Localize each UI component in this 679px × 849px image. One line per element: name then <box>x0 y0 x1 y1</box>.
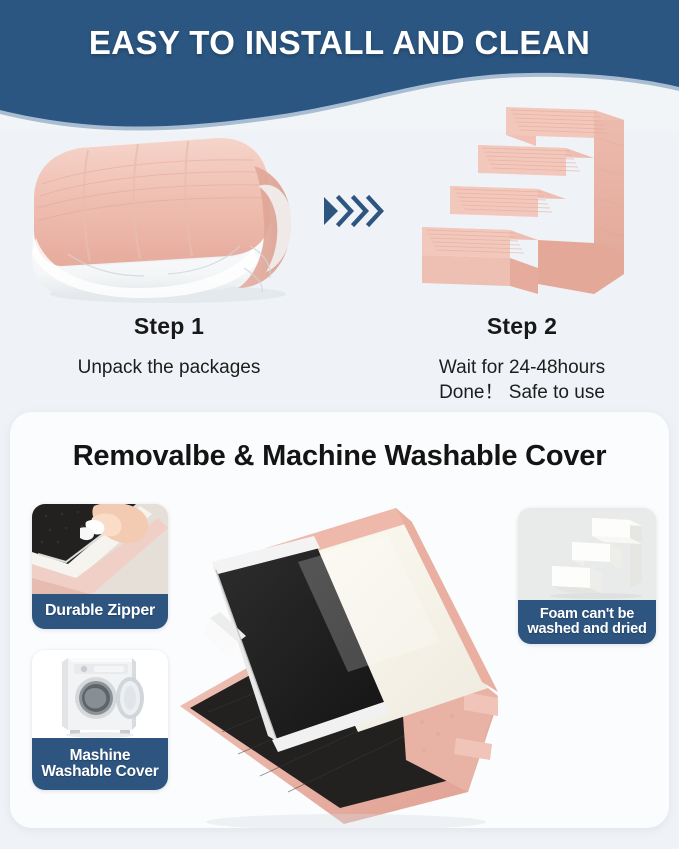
vacuum-packed-foam-roll-image <box>18 126 308 306</box>
foam-not-washable-line-1: Foam can't be <box>540 606 634 622</box>
washing-machine-photo <box>32 650 168 738</box>
steps-section: Step 1 Unpack the packages Step 2 Wait f… <box>0 96 679 406</box>
foam-not-washable-label-text: Foam can't be washed and dried <box>527 607 646 638</box>
cover-peeled-back-product-image <box>168 492 518 828</box>
machine-washable-label: Mashine Washable Cover <box>32 738 168 790</box>
durable-zipper-label-text: Durable Zipper <box>45 603 155 620</box>
pink-pet-stairs-image <box>398 98 628 310</box>
zipper-photo-art <box>32 504 168 594</box>
foam-not-washable-line-2: washed and dried <box>527 621 646 637</box>
chevron-right-arrows-icon <box>322 194 388 228</box>
machine-washable-line-1: Mashine <box>70 747 131 764</box>
white-foam-stairs-photo <box>518 508 656 600</box>
thumbnail-foam-not-washable[interactable]: Foam can't be washed and dried <box>518 508 656 644</box>
cover-section-title: Removalbe & Machine Washable Cover <box>10 440 669 473</box>
step-2-caption: Step 2 Wait for 24-48hours Done！ Safe to… <box>398 311 646 405</box>
thumbnail-durable-zipper[interactable]: Durable Zipper <box>32 504 168 629</box>
machine-washable-label-text: Mashine Washable Cover <box>41 748 158 781</box>
step-1-caption: Step 1 Unpack the packages <box>24 311 314 380</box>
foam-not-washable-label: Foam can't be washed and dried <box>518 600 656 644</box>
step-2-description-line-2: Done！ Safe to use <box>398 380 646 405</box>
step-1-description: Unpack the packages <box>24 355 314 380</box>
page-title: EASY TO INSTALL AND CLEAN <box>0 24 679 62</box>
infographic-page: EASY TO INSTALL AND CLEAN <box>0 0 679 849</box>
durable-zipper-photo <box>32 504 168 594</box>
step-2-title: Step 2 <box>398 311 646 341</box>
washable-cover-card: Removalbe & Machine Washable Cover <box>10 412 669 828</box>
step-2-description-line-1: Wait for 24-48hours <box>398 355 646 380</box>
step-1-title: Step 1 <box>24 311 314 341</box>
white-foam-stairs-art <box>518 508 656 600</box>
durable-zipper-label: Durable Zipper <box>32 594 168 629</box>
thumbnail-machine-washable[interactable]: Mashine Washable Cover <box>32 650 168 790</box>
machine-washable-line-2: Washable Cover <box>41 763 158 780</box>
washing-machine-art <box>32 650 168 738</box>
